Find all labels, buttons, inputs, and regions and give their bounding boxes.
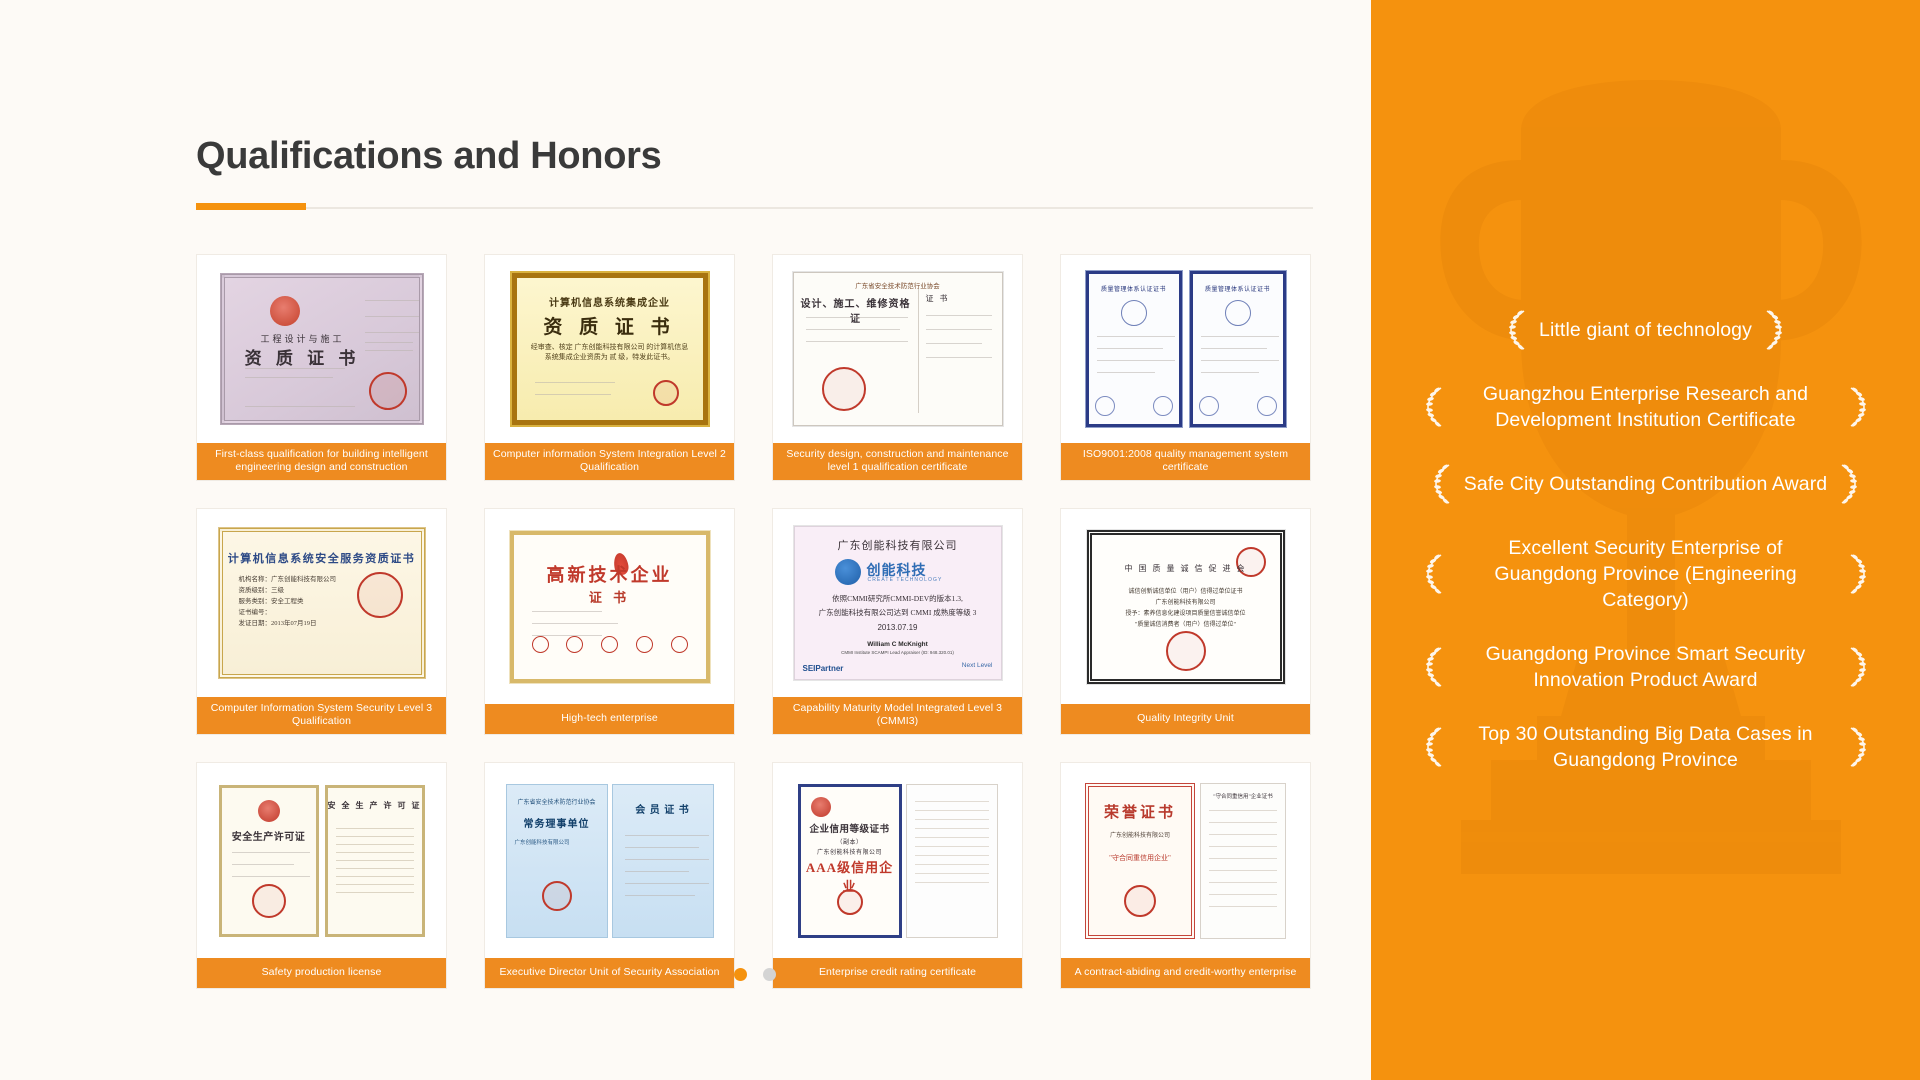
- honor-label: Safe City Outstanding Contribution Award: [1464, 471, 1828, 497]
- cert-side-title-cn: 会 员 证 书: [613, 801, 713, 816]
- certificate-thumbnail[interactable]: 广东创能科技有限公司 创能科技 CREATE TECHNOLOGY 依照CMMI…: [773, 509, 1022, 697]
- pagination-dot-2[interactable]: [763, 968, 776, 981]
- cert-body-cn: 广东创能科技有限公司: [1099, 831, 1181, 841]
- create-technology-logo: [835, 559, 861, 585]
- certificate-thumbnail[interactable]: 荣誉证书 广东创能科技有限公司 "守合同重信用企业" "守合同重信用"企业证书: [1061, 763, 1310, 958]
- cert-title-cn: 常务理事单位: [507, 815, 607, 830]
- certificate-thumbnail[interactable]: 计算机信息系统集成企业 资 质 证 书 经审查、核定 广东创能科技有限公司 的计…: [485, 255, 734, 443]
- certificate-thumbnail[interactable]: 广东省安全技术防范行业协会 常务理事单位 广东创能科技有限公司 会 员 证 书: [485, 763, 734, 958]
- red-stamp-icon: [566, 636, 583, 653]
- red-stamp-icon: [653, 380, 679, 406]
- signature-name: William C McKnight: [795, 641, 1001, 648]
- cert-side-header-cn: "守合同重信用"企业证书: [1201, 792, 1285, 800]
- certificate-thumbnail[interactable]: 工程设计与施工 资 质 证 书: [197, 255, 446, 443]
- certificate-card[interactable]: 企业信用等级证书 （副本） 广东创能科技有限公司 AAA级信用企业 Enterp…: [772, 762, 1023, 989]
- cert-side-title-cn: 安 全 生 产 许 可 证: [328, 800, 422, 811]
- red-stamp-icon: [1124, 885, 1156, 917]
- certificate-caption: ISO9001:2008 quality management system c…: [1061, 443, 1310, 480]
- certificate-caption: Computer Information System Security Lev…: [197, 697, 446, 734]
- carousel-pagination[interactable]: [196, 968, 1313, 981]
- red-stamp-icon: [532, 636, 549, 653]
- cert-title-cn: 安全生产许可证: [222, 828, 316, 843]
- honor-item[interactable]: Guangzhou Enterprise Research and Develo…: [1381, 381, 1910, 433]
- cert-side-label-cn: 证 书: [926, 293, 950, 304]
- national-emblem-icon: [258, 800, 280, 822]
- cmmi-line-2: 广东创能科技有限公司达到 CMMI 成熟度等级 3: [807, 607, 989, 618]
- cnas-badge-icon: [1095, 396, 1115, 416]
- honors-panel: Little giant of technology: [1371, 0, 1920, 1080]
- cert-title-cn: 企业信用等级证书: [801, 821, 899, 835]
- cert-title-cn: 荣誉证书: [1089, 801, 1191, 822]
- honor-item[interactable]: Top 30 Outstanding Big Data Cases in Gua…: [1381, 721, 1910, 773]
- red-stamp-icon: [601, 636, 618, 653]
- page-title: Qualifications and Honors: [196, 135, 661, 178]
- certificate-caption: Capability Maturity Model Integrated Lev…: [773, 697, 1022, 734]
- company-name-cn: 广东创能科技有限公司: [795, 537, 1001, 553]
- laurel-wreath-right-icon: [1844, 724, 1870, 770]
- cert-title-cn: 中 国 质 量 诚 信 促 进 会: [1092, 563, 1280, 574]
- honor-item[interactable]: Excellent Security Enterprise of Guangdo…: [1381, 535, 1910, 613]
- certificate-card[interactable]: 广东创能科技有限公司 创能科技 CREATE TECHNOLOGY 依照CMMI…: [772, 508, 1023, 735]
- red-stamp-icon: [365, 368, 410, 413]
- red-stamp-icon: [357, 572, 403, 618]
- honor-label: Top 30 Outstanding Big Data Cases in Gua…: [1456, 721, 1836, 773]
- title-divider: [196, 207, 1313, 209]
- honor-item[interactable]: Guangdong Province Smart Security Innova…: [1381, 641, 1910, 693]
- sei-partner-logo: SEIPartner: [803, 664, 844, 673]
- company-name-cn: 广东创能科技有限公司: [801, 847, 899, 856]
- cert-header-cn: 广东省安全技术防范行业协会: [507, 797, 607, 806]
- cert-title-cn: 高新技术企业: [514, 561, 706, 587]
- red-stamp-icon: [542, 881, 572, 911]
- certificate-caption: Computer information System Integration …: [485, 443, 734, 480]
- laurel-wreath-right-icon: [1844, 551, 1870, 597]
- signature-title: CMMI Institute SCAMPI Lead Appraiser (ID…: [795, 650, 1001, 655]
- honor-label: Little giant of technology: [1539, 317, 1752, 343]
- red-stamp-icon: [252, 884, 286, 918]
- laurel-wreath-left-icon: [1422, 724, 1448, 770]
- certificate-card[interactable]: 广东省安全技术防范行业协会 常务理事单位 广东创能科技有限公司 会 员 证 书: [484, 762, 735, 989]
- certificate-caption: First-class qualification for building i…: [197, 443, 446, 480]
- red-stamp-icon: [822, 367, 866, 411]
- laurel-wreath-left-icon: [1422, 384, 1448, 430]
- honor-item[interactable]: Little giant of technology: [1381, 307, 1910, 353]
- cert-body-cn: 广东创能科技有限公司: [515, 839, 599, 848]
- cmmi-line-1: 依照CMMI研究所CMMI-DEV的版本1.3,: [807, 593, 989, 604]
- certification-seal-icon: [1225, 300, 1251, 326]
- iaf-badge-icon: [1257, 396, 1277, 416]
- pagination-dot-1[interactable]: [734, 968, 747, 981]
- red-stamp-icon: [837, 889, 863, 915]
- certificate-card[interactable]: 工程设计与施工 资 质 证 书 First-class qualificatio…: [196, 254, 447, 481]
- laurel-wreath-right-icon: [1835, 461, 1861, 507]
- certificate-caption: High-tech enterprise: [485, 704, 734, 734]
- certificate-caption: Quality Integrity Unit: [1061, 704, 1310, 734]
- laurel-wreath-left-icon: [1422, 551, 1448, 597]
- certificate-card[interactable]: 广东省安全技术防范行业协会 设计、施工、维修资格证 证 书 Security d…: [772, 254, 1023, 481]
- honor-label: Guangdong Province Smart Security Innova…: [1456, 641, 1836, 693]
- cmmi-date: 2013.07.19: [795, 623, 1001, 632]
- honors-list: Little giant of technology: [1371, 0, 1920, 1080]
- certificate-thumbnail[interactable]: 中 国 质 量 诚 信 促 进 会 诚信创新诚信单位（用户）信得过单位证书 广东…: [1061, 509, 1310, 704]
- cert-header-cn: 质量管理体系认证证书: [1193, 284, 1283, 293]
- certificate-card[interactable]: 计算机信息系统安全服务资质证书 机构名称：广东创能科技有限公司 资质级别：三级 …: [196, 508, 447, 735]
- certificate-thumbnail[interactable]: 企业信用等级证书 （副本） 广东创能科技有限公司 AAA级信用企业: [773, 763, 1022, 958]
- certificate-grid: 工程设计与施工 资 质 证 书 First-class qualificatio…: [196, 254, 1313, 989]
- qualifications-panel: Qualifications and Honors 工程设计与施工 资 质 证 …: [0, 0, 1371, 1080]
- next-level-logo: Next Level: [962, 662, 993, 669]
- title-accent-bar: [196, 203, 306, 210]
- cert-header-cn: 质量管理体系认证证书: [1089, 284, 1179, 293]
- honor-label: Excellent Security Enterprise of Guangdo…: [1456, 535, 1836, 613]
- laurel-wreath-right-icon: [1760, 307, 1786, 353]
- certificate-card[interactable]: 质量管理体系认证证书 质量管理体系认证证书: [1060, 254, 1311, 481]
- honor-item[interactable]: Safe City Outstanding Contribution Award: [1381, 461, 1910, 507]
- cnas-badge-icon: [1199, 396, 1219, 416]
- cert-title-cn: 设计、施工、维修资格证: [800, 295, 912, 325]
- laurel-wreath-right-icon: [1844, 644, 1870, 690]
- red-stamp-icon: [1166, 631, 1206, 671]
- certificate-thumbnail[interactable]: 广东省安全技术防范行业协会 设计、施工、维修资格证 证 书: [773, 255, 1022, 443]
- honor-label: Guangzhou Enterprise Research and Develo…: [1456, 381, 1836, 433]
- national-emblem-icon: [270, 296, 300, 326]
- cert-title-cn: 资 质 证 书: [517, 312, 703, 339]
- brand-name-en: CREATE TECHNOLOGY: [868, 577, 943, 583]
- cert-header-cn: 计算机信息系统集成企业: [517, 294, 703, 309]
- certificate-thumbnail[interactable]: 安全生产许可证 安 全 生 产 许 可 证: [197, 763, 446, 958]
- red-stamp-icon: [671, 636, 688, 653]
- certificate-card[interactable]: 安全生产许可证 安 全 生 产 许 可 证 Safety production: [196, 762, 447, 989]
- certificate-caption: Security design, construction and mainte…: [773, 443, 1022, 480]
- cert-header-cn: 广东省安全技术防范行业协会: [794, 280, 1002, 290]
- certificate-card[interactable]: 高新技术企业 证 书 High-tech enterprise: [484, 508, 735, 735]
- certificate-card[interactable]: 中 国 质 量 诚 信 促 进 会 诚信创新诚信单位（用户）信得过单位证书 广东…: [1060, 508, 1311, 735]
- cert-rows-cn: 机构名称：广东创能科技有限公司 资质级别：三级 服务类别：安全工程类 证书编号：…: [239, 574, 337, 629]
- laurel-wreath-left-icon: [1505, 307, 1531, 353]
- laurel-wreath-left-icon: [1430, 461, 1456, 507]
- national-emblem-icon: [811, 797, 831, 817]
- cert-title-cn: 资 质 证 书: [245, 344, 361, 369]
- cert-subtitle-cn: 证 书: [514, 587, 706, 606]
- certificate-card[interactable]: 荣誉证书 广东创能科技有限公司 "守合同重信用企业" "守合同重信用"企业证书 …: [1060, 762, 1311, 989]
- iaf-badge-icon: [1153, 396, 1173, 416]
- certificate-thumbnail[interactable]: 高新技术企业 证 书: [485, 509, 734, 704]
- cert-body-cn: 经审查、核定 广东创能科技有限公司 的计算机信息系统集成企业资质为 贰 级，特发…: [531, 342, 689, 362]
- red-stamp-icon: [636, 636, 653, 653]
- cert-rows-cn: 诚信创新诚信单位（用户）信得过单位证书 广东创能科技有限公司 授予：素养信息化建…: [1106, 587, 1266, 631]
- cert-subtitle-cn: （副本）: [801, 837, 899, 846]
- laurel-wreath-left-icon: [1422, 644, 1448, 690]
- certification-seal-icon: [1121, 300, 1147, 326]
- cert-title-cn: 计算机信息系统安全服务资质证书: [223, 550, 421, 566]
- laurel-wreath-right-icon: [1844, 384, 1870, 430]
- certificate-thumbnail[interactable]: 计算机信息系统安全服务资质证书 机构名称：广东创能科技有限公司 资质级别：三级 …: [197, 509, 446, 697]
- cert-highlight-cn: "守合同重信用企业": [1099, 853, 1181, 863]
- certificate-thumbnail[interactable]: 质量管理体系认证证书 质量管理体系认证证书: [1061, 255, 1310, 443]
- certificate-card[interactable]: 计算机信息系统集成企业 资 质 证 书 经审查、核定 广东创能科技有限公司 的计…: [484, 254, 735, 481]
